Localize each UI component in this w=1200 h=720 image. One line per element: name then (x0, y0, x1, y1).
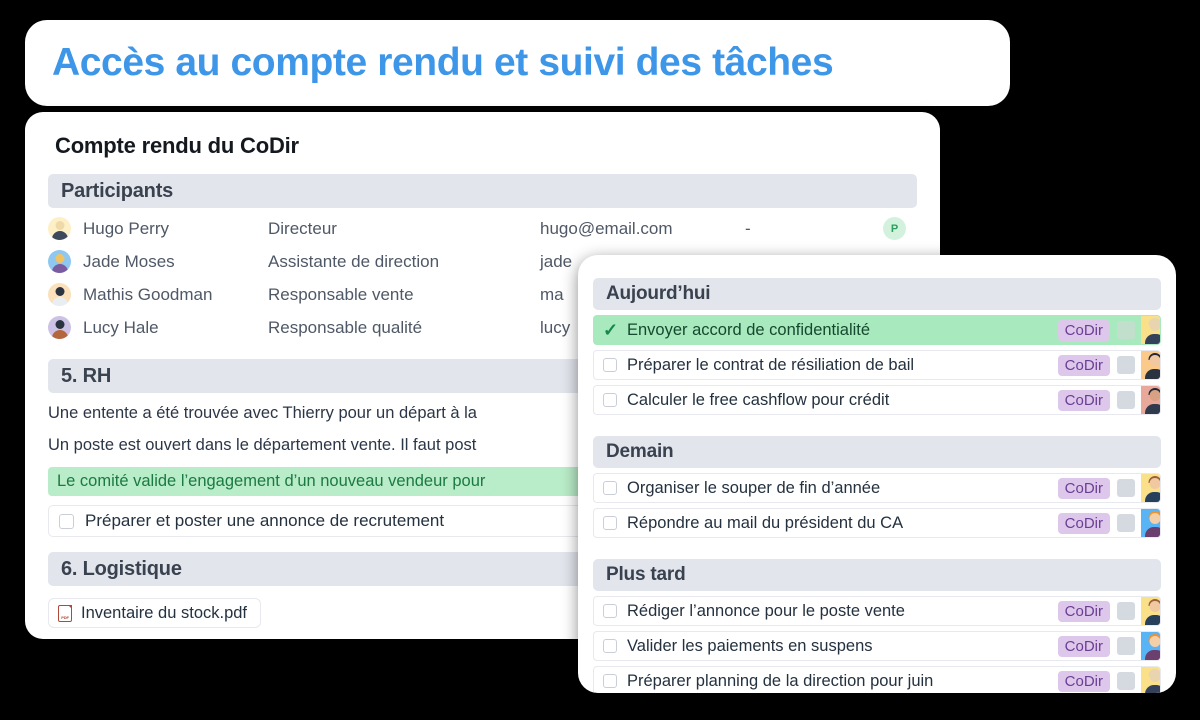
task-row[interactable]: Calculer le free cashflow pour crédit Co… (593, 385, 1161, 415)
task-group-label: Demain (606, 441, 673, 463)
page-title: Accès au compte rendu et suivi des tâche… (25, 41, 833, 85)
task-row[interactable]: Rédiger l’annonce pour le poste vente Co… (593, 596, 1161, 626)
participant-name: Jade Moses (83, 252, 268, 272)
assignee-avatar[interactable] (1141, 666, 1161, 693)
section-header-label: 5. RH (61, 365, 111, 388)
task-slot-placeholder[interactable] (1117, 356, 1135, 374)
task-label: Envoyer accord de confidentialité (627, 321, 1058, 340)
task-group-header-later: Plus tard (593, 559, 1161, 591)
task-tag[interactable]: CoDir (1058, 320, 1110, 341)
task-tag[interactable]: CoDir (1058, 478, 1110, 499)
task-label: Calculer le free cashflow pour crédit (627, 391, 1058, 410)
task-slot-placeholder[interactable] (1117, 321, 1135, 339)
decision-text: Le comité valide l’engagement d’un nouve… (57, 472, 485, 491)
task-tag[interactable]: CoDir (1058, 601, 1110, 622)
participant-email: hugo@email.com (540, 219, 745, 239)
checkbox-icon[interactable] (603, 516, 617, 530)
document-title: Compte rendu du CoDir (25, 112, 940, 159)
task-row[interactable]: Préparer planning de la direction pour j… (593, 666, 1161, 693)
task-slot-placeholder[interactable] (1117, 391, 1135, 409)
avatar (48, 217, 71, 240)
task-label: Valider les paiements en suspens (627, 637, 1058, 656)
participant-name: Lucy Hale (83, 318, 268, 338)
task-group-header-today: Aujourd’hui (593, 278, 1161, 310)
assignee-avatar[interactable] (1141, 385, 1161, 415)
check-icon[interactable]: ✓ (603, 323, 617, 337)
section-header-label: 6. Logistique (61, 558, 182, 581)
task-label: Rédiger l’annonce pour le poste vente (627, 602, 1058, 621)
participant-role: Responsable qualité (268, 318, 540, 338)
participant-role: Directeur (268, 219, 540, 239)
checkbox-icon[interactable] (603, 674, 617, 688)
task-row[interactable]: Valider les paiements en suspens CoDir (593, 631, 1161, 661)
section-header-participants: Participants (48, 174, 917, 208)
participant-role: Assistante de direction (268, 252, 540, 272)
attachment-chip[interactable]: Inventaire du stock.pdf (48, 598, 261, 628)
task-tag[interactable]: CoDir (1058, 636, 1110, 657)
task-slot-placeholder[interactable] (1117, 514, 1135, 532)
checkbox-icon[interactable] (603, 639, 617, 653)
pdf-icon (58, 605, 72, 622)
task-row[interactable]: Répondre au mail du président du CA CoDi… (593, 508, 1161, 538)
task-row[interactable]: Préparer le contrat de résiliation de ba… (593, 350, 1161, 380)
participant-role: Responsable vente (268, 285, 540, 305)
task-tag[interactable]: CoDir (1058, 671, 1110, 692)
header-banner: Accès au compte rendu et suivi des tâche… (25, 20, 1010, 106)
assignee-avatar[interactable] (1141, 596, 1161, 626)
task-slot-placeholder[interactable] (1117, 637, 1135, 655)
status-badge: P (883, 217, 906, 240)
task-group-label: Plus tard (606, 564, 686, 586)
task-label: Préparer le contrat de résiliation de ba… (627, 356, 1058, 375)
checkbox-icon[interactable] (603, 393, 617, 407)
avatar (48, 316, 71, 339)
assignee-avatar[interactable] (1141, 508, 1161, 538)
assignee-avatar[interactable] (1141, 631, 1161, 661)
task-row[interactable]: Organiser le souper de fin d’année CoDir (593, 473, 1161, 503)
section-header-label: Participants (61, 180, 173, 203)
task-slot-placeholder[interactable] (1117, 602, 1135, 620)
checkbox-icon[interactable] (603, 604, 617, 618)
task-label: Préparer planning de la direction pour j… (627, 672, 1058, 691)
attachment-label: Inventaire du stock.pdf (81, 604, 247, 623)
assignee-avatar[interactable] (1141, 350, 1161, 380)
task-label: Répondre au mail du président du CA (627, 514, 1058, 533)
task-tracker-panel: Aujourd’hui ✓ Envoyer accord de confiden… (578, 255, 1176, 693)
task-label: Organiser le souper de fin d’année (627, 479, 1058, 498)
checkbox-icon[interactable] (59, 514, 74, 529)
assignee-avatar[interactable] (1141, 473, 1161, 503)
task-slot-placeholder[interactable] (1117, 672, 1135, 690)
document-task-label: Préparer et poster une annonce de recrut… (85, 511, 444, 531)
task-group-label: Aujourd’hui (606, 283, 710, 305)
checkbox-icon[interactable] (603, 358, 617, 372)
task-slot-placeholder[interactable] (1117, 479, 1135, 497)
task-group-header-tomorrow: Demain (593, 436, 1161, 468)
task-tag[interactable]: CoDir (1058, 355, 1110, 376)
participant-extra: - (745, 219, 883, 239)
task-tag[interactable]: CoDir (1058, 390, 1110, 411)
participant-row[interactable]: Hugo Perry Directeur hugo@email.com - P (48, 212, 917, 245)
avatar (48, 250, 71, 273)
participant-name: Mathis Goodman (83, 285, 268, 305)
participant-name: Hugo Perry (83, 219, 268, 239)
checkbox-icon[interactable] (603, 481, 617, 495)
avatar (48, 283, 71, 306)
assignee-avatar[interactable] (1141, 315, 1161, 345)
task-row[interactable]: ✓ Envoyer accord de confidentialité CoDi… (593, 315, 1161, 345)
task-tag[interactable]: CoDir (1058, 513, 1110, 534)
